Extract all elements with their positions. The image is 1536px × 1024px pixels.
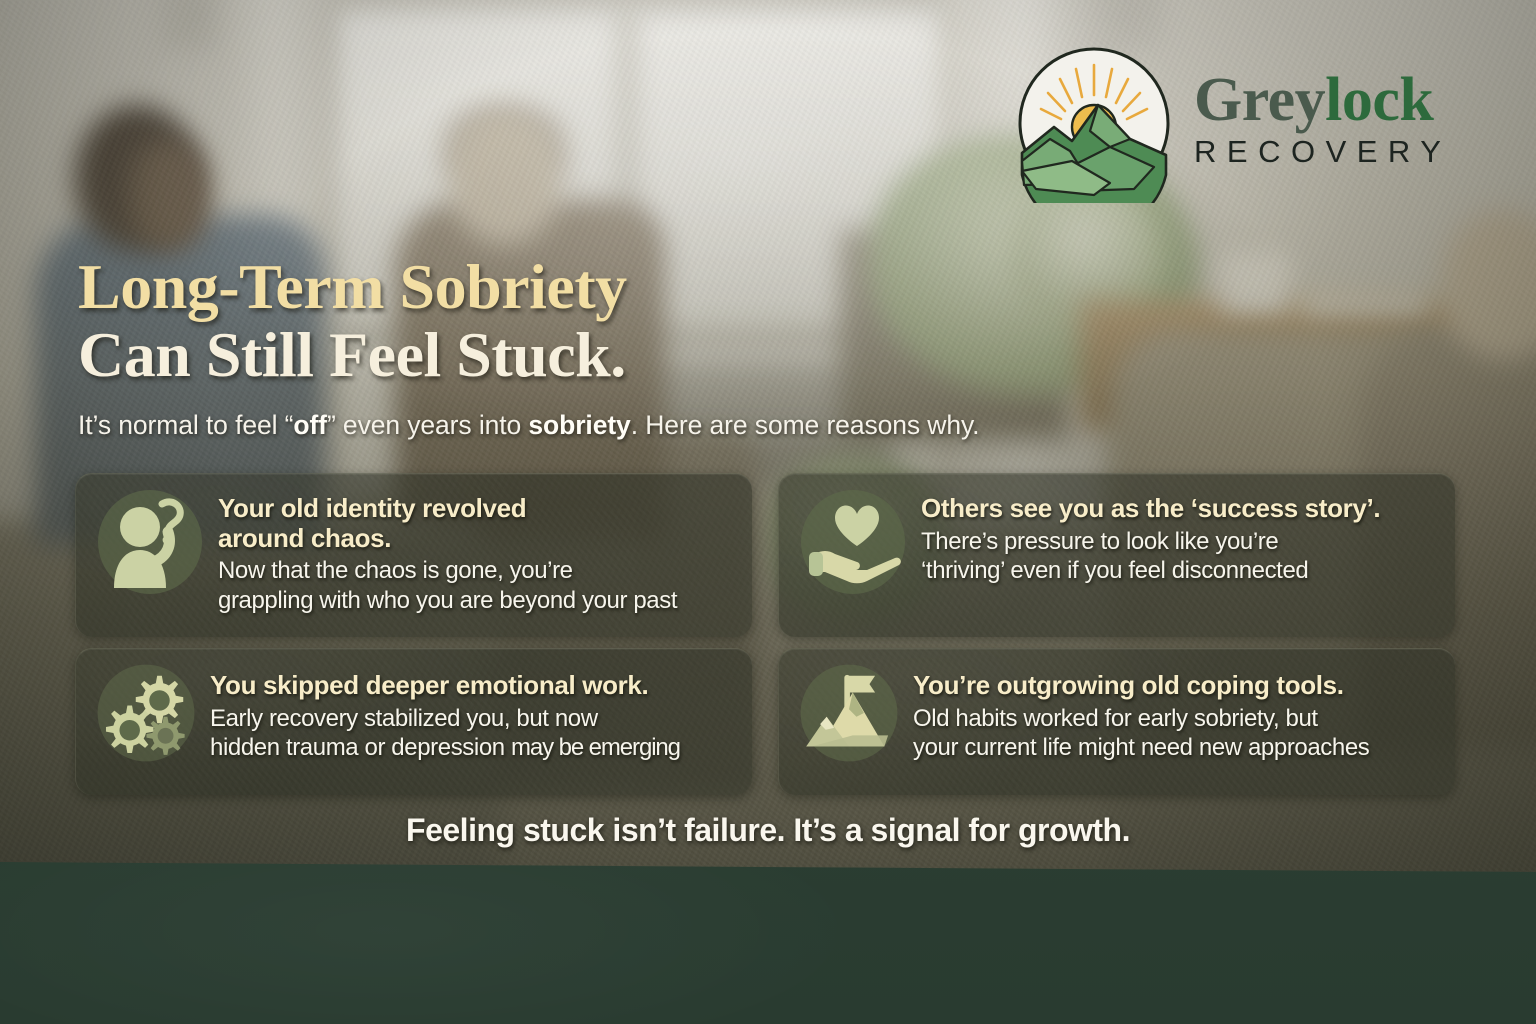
- card-title-line-1: You skipped deeper emotional work.: [210, 670, 648, 700]
- card-title-line-2: around chaos.: [218, 523, 391, 553]
- card-description: Early recovery stabilized you, but now h…: [210, 704, 736, 764]
- mountain-sunrise-circle-icon: [1014, 43, 1174, 203]
- headline-line-2: Can Still Feel Stuck.: [78, 321, 627, 389]
- reason-card-identity[interactable]: Your old identity revolved around chaos.…: [75, 473, 752, 637]
- gears-icon: [92, 659, 200, 767]
- card-desc-line-2: grappling with who you are beyond your p…: [218, 587, 677, 614]
- subtitle-bold-off: off: [293, 410, 327, 440]
- card-title: You’re outgrowing old coping tools.: [913, 671, 1439, 701]
- card-title-line-1: Others see you as the ‘success story’.: [921, 493, 1380, 523]
- card-title: Others see you as the ‘success story’.: [921, 494, 1439, 524]
- card-desc-line-2: ‘thriving’ even if you feel disconnected: [921, 557, 1308, 584]
- card-desc-line-2-tight: may be emerging: [511, 734, 680, 761]
- card-desc-line-1: Now that the chaos is gone, you’re: [218, 557, 573, 584]
- card-title-line-1: Your old identity revolved: [218, 493, 526, 523]
- reason-card-grid: Your old identity revolved around chaos.…: [75, 473, 1470, 795]
- page-title: Long-Term Sobriety Can Still Feel Stuck.: [78, 253, 627, 389]
- brand-name: Greylock: [1194, 70, 1451, 131]
- subtitle-bold-sobriety: sobriety: [528, 410, 630, 440]
- card-title-line-1: You’re outgrowing old coping tools.: [913, 670, 1344, 700]
- card-description: Old habits worked for early sobriety, bu…: [913, 704, 1439, 764]
- card-desc-line-2: hidden trauma or depression: [210, 734, 511, 761]
- card-title: Your old identity revolved around chaos.: [218, 494, 736, 553]
- reason-card-emotional-work[interactable]: You skipped deeper emotional work. Early…: [75, 648, 752, 795]
- subtitle-part-1: It’s normal to feel “: [78, 410, 293, 440]
- card-desc-line-1: Early recovery stabilized you, but now: [210, 705, 598, 732]
- brand-logo[interactable]: Greylock RECOVERY: [1014, 43, 1451, 203]
- brand-name-part1: Grey: [1194, 66, 1325, 134]
- card-description: There’s pressure to look like you’re ‘th…: [921, 527, 1439, 587]
- card-desc-line-1: There’s pressure to look like you’re: [921, 528, 1278, 555]
- mountain-summit-flag-icon: [795, 659, 903, 767]
- person-question-mark-icon: [92, 484, 208, 600]
- page-subtitle: It’s normal to feel “off” even years int…: [78, 410, 979, 441]
- subtitle-part-2: ” even years into: [327, 410, 528, 440]
- card-desc-line-2: your current life might need new approac…: [913, 734, 1369, 761]
- subtitle-part-3: . Here are some reasons why.: [631, 410, 980, 440]
- card-desc-line-1: Old habits worked for early sobriety, bu…: [913, 705, 1318, 732]
- hand-holding-heart-icon: [795, 484, 911, 600]
- infographic-poster: Greylock RECOVERY Long-Term Sobriety Can…: [0, 0, 1536, 1024]
- footer-tagline: Feeling stuck isn’t failure. It’s a sign…: [0, 812, 1536, 849]
- card-description: Now that the chaos is gone, you’re grapp…: [218, 556, 736, 616]
- brand-subtitle: RECOVERY: [1194, 134, 1451, 170]
- reason-card-coping-tools[interactable]: You’re outgrowing old coping tools. Old …: [778, 648, 1455, 795]
- card-title: You skipped deeper emotional work.: [210, 671, 736, 701]
- headline-line-1: Long-Term Sobriety: [78, 253, 627, 321]
- reason-card-success-story[interactable]: Others see you as the ‘success story’. T…: [778, 473, 1455, 637]
- brand-name-part2: lock: [1325, 66, 1433, 134]
